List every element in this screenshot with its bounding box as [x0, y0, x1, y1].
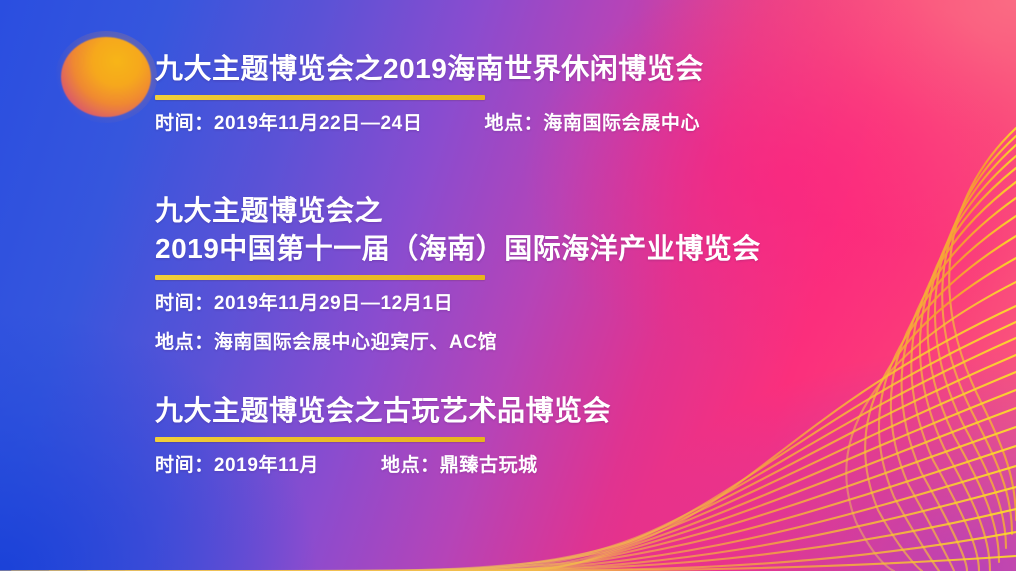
place-value-2: 海南国际会展中心迎宾厅、AC馆	[214, 332, 497, 353]
time-label-3: 时间：	[155, 455, 214, 476]
event-section-3: 九大主题博览会之古玩艺术品博览会 时间：2019年11月地点：鼎臻古玩城	[155, 392, 611, 481]
time-label-2: 时间：	[155, 293, 214, 314]
time-value-1: 2019年11月22日—24日	[214, 113, 423, 134]
event-section-1: 九大主题博览会之2019海南世界休闲博览会 时间：2019年11月22日—24日…	[155, 50, 704, 139]
event-detail-row-3: 时间：2019年11月地点：鼎臻古玩城	[155, 451, 611, 481]
banner-content: 九大主题博览会之2019海南世界休闲博览会 时间：2019年11月22日—24日…	[0, 0, 1016, 571]
time-label-1: 时间：	[155, 113, 214, 134]
place-label-2: 地点：	[155, 332, 214, 353]
place-label-1: 地点：	[484, 113, 543, 134]
event-section-2: 九大主题博览会之 2019中国第十一届（海南）国际海洋产业博览会 时间：2019…	[155, 192, 761, 358]
event-title-3: 九大主题博览会之古玩艺术品博览会	[155, 392, 611, 430]
event-time-row-2: 时间：2019年11月29日—12月1日	[155, 289, 761, 319]
event-title-1: 九大主题博览会之2019海南世界休闲博览会	[155, 50, 704, 88]
title-underline-3	[155, 437, 485, 442]
promo-banner: 九大主题博览会之2019海南世界休闲博览会 时间：2019年11月22日—24日…	[0, 0, 1016, 571]
place-value-3: 鼎臻古玩城	[440, 455, 538, 476]
place-value-1: 海南国际会展中心	[543, 113, 700, 134]
event-title-2-line1: 九大主题博览会之	[155, 192, 761, 230]
event-place-row-2: 地点：海南国际会展中心迎宾厅、AC馆	[155, 328, 761, 358]
event-title-2-line2: 2019中国第十一届（海南）国际海洋产业博览会	[155, 230, 761, 268]
place-label-3: 地点：	[381, 455, 440, 476]
time-value-2: 2019年11月29日—12月1日	[214, 293, 453, 314]
event-detail-row-1: 时间：2019年11月22日—24日地点：海南国际会展中心	[155, 109, 704, 139]
title-underline-1	[155, 95, 485, 100]
title-underline-2	[155, 275, 485, 280]
time-value-3: 2019年11月	[214, 455, 319, 476]
